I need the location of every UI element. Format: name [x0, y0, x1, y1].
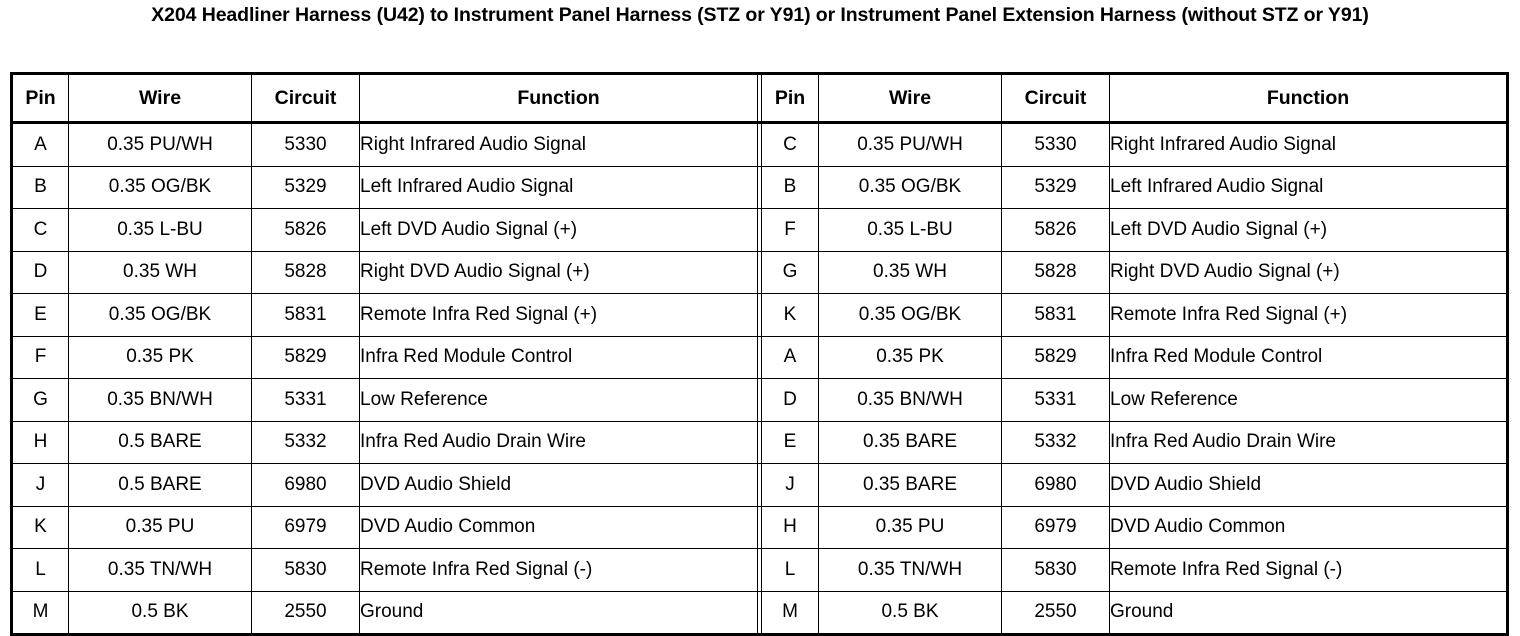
header-function-right: Function	[1110, 74, 1508, 123]
cell-left-circuit: 5830	[252, 549, 360, 592]
cell-right-circuit: 6979	[1002, 506, 1110, 549]
cell-right-pin: A	[762, 336, 819, 379]
table-row: A0.35 PU/WH5330Right Infrared Audio Sign…	[12, 123, 1508, 167]
cell-right-wire: 0.35 BARE	[819, 464, 1002, 507]
table-row: K0.35 PU6979DVD Audio CommonH0.35 PU6979…	[12, 506, 1508, 549]
cell-left-circuit: 5332	[252, 421, 360, 464]
table-row: L0.35 TN/WH5830Remote Infra Red Signal (…	[12, 549, 1508, 592]
cell-left-wire: 0.35 TN/WH	[69, 549, 252, 592]
cell-left-wire: 0.5 BARE	[69, 464, 252, 507]
table-header: Pin Wire Circuit Function Pin Wire Circu…	[12, 74, 1508, 123]
cell-left-pin: H	[12, 421, 69, 464]
cell-left-function: Infra Red Audio Drain Wire	[360, 421, 758, 464]
cell-right-wire: 0.35 PU	[819, 506, 1002, 549]
cell-left-function: Remote Infra Red Signal (+)	[360, 294, 758, 337]
cell-right-pin: L	[762, 549, 819, 592]
cell-right-circuit: 5330	[1002, 123, 1110, 167]
cell-left-function: Infra Red Module Control	[360, 336, 758, 379]
table-row: J0.5 BARE6980DVD Audio ShieldJ0.35 BARE6…	[12, 464, 1508, 507]
cell-left-circuit: 6979	[252, 506, 360, 549]
cell-left-wire: 0.35 WH	[69, 251, 252, 294]
cell-right-function: DVD Audio Common	[1110, 506, 1508, 549]
cell-left-circuit: 5826	[252, 209, 360, 252]
cell-right-function: Left Infrared Audio Signal	[1110, 166, 1508, 209]
cell-left-wire: 0.5 BARE	[69, 421, 252, 464]
cell-left-function: Low Reference	[360, 379, 758, 422]
cell-right-pin: H	[762, 506, 819, 549]
cell-left-wire: 0.5 BK	[69, 591, 252, 635]
cell-left-wire: 0.35 BN/WH	[69, 379, 252, 422]
cell-left-wire: 0.35 PU	[69, 506, 252, 549]
cell-right-function: Ground	[1110, 591, 1508, 635]
cell-right-pin: G	[762, 251, 819, 294]
table-row: H0.5 BARE5332Infra Red Audio Drain WireE…	[12, 421, 1508, 464]
cell-left-pin: G	[12, 379, 69, 422]
cell-right-circuit: 5826	[1002, 209, 1110, 252]
cell-right-pin: K	[762, 294, 819, 337]
cell-right-function: Remote Infra Red Signal (+)	[1110, 294, 1508, 337]
cell-right-wire: 0.5 BK	[819, 591, 1002, 635]
cell-right-function: DVD Audio Shield	[1110, 464, 1508, 507]
cell-left-pin: B	[12, 166, 69, 209]
cell-right-circuit: 5329	[1002, 166, 1110, 209]
cell-left-circuit: 5828	[252, 251, 360, 294]
cell-right-pin: F	[762, 209, 819, 252]
cell-left-pin: E	[12, 294, 69, 337]
table-row: B0.35 OG/BK5329Left Infrared Audio Signa…	[12, 166, 1508, 209]
cell-right-wire: 0.35 BARE	[819, 421, 1002, 464]
page-title: X204 Headliner Harness (U42) to Instrume…	[10, 0, 1510, 28]
cell-right-circuit: 5830	[1002, 549, 1110, 592]
cell-left-pin: F	[12, 336, 69, 379]
cell-right-function: Infra Red Module Control	[1110, 336, 1508, 379]
cell-left-function: Right DVD Audio Signal (+)	[360, 251, 758, 294]
cell-right-pin: J	[762, 464, 819, 507]
cell-left-wire: 0.35 OG/BK	[69, 294, 252, 337]
cell-left-circuit: 5329	[252, 166, 360, 209]
cell-right-circuit: 5831	[1002, 294, 1110, 337]
cell-right-circuit: 5331	[1002, 379, 1110, 422]
cell-right-function: Infra Red Audio Drain Wire	[1110, 421, 1508, 464]
cell-right-pin: D	[762, 379, 819, 422]
cell-left-pin: C	[12, 209, 69, 252]
cell-right-wire: 0.35 WH	[819, 251, 1002, 294]
cell-left-function: DVD Audio Shield	[360, 464, 758, 507]
cell-left-function: Right Infrared Audio Signal	[360, 123, 758, 167]
cell-right-wire: 0.35 TN/WH	[819, 549, 1002, 592]
header-pin-right: Pin	[762, 74, 819, 123]
cell-left-circuit: 5331	[252, 379, 360, 422]
table-row: D0.35 WH5828Right DVD Audio Signal (+)G0…	[12, 251, 1508, 294]
cell-left-wire: 0.35 OG/BK	[69, 166, 252, 209]
cell-right-wire: 0.35 OG/BK	[819, 294, 1002, 337]
cell-left-wire: 0.35 PK	[69, 336, 252, 379]
pinout-table: Pin Wire Circuit Function Pin Wire Circu…	[10, 72, 1509, 636]
cell-left-circuit: 5831	[252, 294, 360, 337]
header-circuit-left: Circuit	[252, 74, 360, 123]
cell-left-wire: 0.35 PU/WH	[69, 123, 252, 167]
header-wire-left: Wire	[69, 74, 252, 123]
cell-right-pin: C	[762, 123, 819, 167]
cell-left-pin: D	[12, 251, 69, 294]
cell-left-wire: 0.35 L-BU	[69, 209, 252, 252]
cell-left-function: Remote Infra Red Signal (-)	[360, 549, 758, 592]
cell-left-function: DVD Audio Common	[360, 506, 758, 549]
cell-left-circuit: 2550	[252, 591, 360, 635]
table-row: F0.35 PK5829Infra Red Module ControlA0.3…	[12, 336, 1508, 379]
cell-left-pin: J	[12, 464, 69, 507]
cell-left-pin: A	[12, 123, 69, 167]
cell-left-function: Left Infrared Audio Signal	[360, 166, 758, 209]
header-function-left: Function	[360, 74, 758, 123]
cell-right-function: Low Reference	[1110, 379, 1508, 422]
header-pin-left: Pin	[12, 74, 69, 123]
cell-right-circuit: 5332	[1002, 421, 1110, 464]
header-circuit-right: Circuit	[1002, 74, 1110, 123]
cell-left-pin: K	[12, 506, 69, 549]
table-row: E0.35 OG/BK5831Remote Infra Red Signal (…	[12, 294, 1508, 337]
cell-right-function: Remote Infra Red Signal (-)	[1110, 549, 1508, 592]
cell-left-function: Ground	[360, 591, 758, 635]
cell-right-circuit: 2550	[1002, 591, 1110, 635]
cell-right-function: Right Infrared Audio Signal	[1110, 123, 1508, 167]
cell-right-function: Right DVD Audio Signal (+)	[1110, 251, 1508, 294]
table-row: G0.35 BN/WH5331Low ReferenceD0.35 BN/WH5…	[12, 379, 1508, 422]
cell-left-circuit: 5330	[252, 123, 360, 167]
table-header-row: Pin Wire Circuit Function Pin Wire Circu…	[12, 74, 1508, 123]
cell-right-wire: 0.35 PU/WH	[819, 123, 1002, 167]
cell-right-pin: M	[762, 591, 819, 635]
cell-right-wire: 0.35 OG/BK	[819, 166, 1002, 209]
cell-right-circuit: 5828	[1002, 251, 1110, 294]
table-row: C0.35 L-BU5826Left DVD Audio Signal (+)F…	[12, 209, 1508, 252]
header-wire-right: Wire	[819, 74, 1002, 123]
cell-right-pin: B	[762, 166, 819, 209]
cell-left-pin: L	[12, 549, 69, 592]
cell-left-circuit: 5829	[252, 336, 360, 379]
cell-left-circuit: 6980	[252, 464, 360, 507]
cell-right-function: Left DVD Audio Signal (+)	[1110, 209, 1508, 252]
table-row: M0.5 BK2550GroundM0.5 BK2550Ground	[12, 591, 1508, 635]
cell-right-wire: 0.35 PK	[819, 336, 1002, 379]
cell-left-function: Left DVD Audio Signal (+)	[360, 209, 758, 252]
table-body: A0.35 PU/WH5330Right Infrared Audio Sign…	[12, 123, 1508, 635]
cell-left-pin: M	[12, 591, 69, 635]
cell-right-pin: E	[762, 421, 819, 464]
document-page: X204 Headliner Harness (U42) to Instrume…	[0, 0, 1520, 632]
cell-right-circuit: 5829	[1002, 336, 1110, 379]
cell-right-wire: 0.35 L-BU	[819, 209, 1002, 252]
pinout-table-container: Pin Wire Circuit Function Pin Wire Circu…	[10, 72, 1506, 636]
cell-right-wire: 0.35 BN/WH	[819, 379, 1002, 422]
cell-right-circuit: 6980	[1002, 464, 1110, 507]
